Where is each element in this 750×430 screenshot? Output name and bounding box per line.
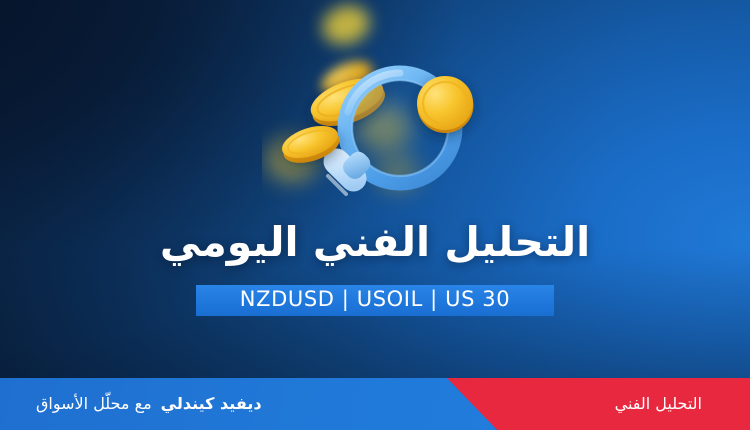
footer-category: التحليل الفني — [615, 378, 702, 430]
footer-analyst-credit: ديفيد كيندلي مع محلّل الأسواق — [36, 378, 262, 430]
category-label: التحليل الفني — [615, 396, 702, 412]
footer-bar: ديفيد كيندلي مع محلّل الأسواق التحليل ال… — [0, 378, 750, 430]
banner-root: التحليل الفني اليومي NZDUSD | USOIL | US… — [0, 0, 750, 430]
symbols-badge-container: NZDUSD | USOIL | US 30 — [0, 285, 750, 316]
magnifying-glass-with-coins-illustration — [262, 0, 512, 215]
symbols-badge: NZDUSD | USOIL | US 30 — [196, 285, 554, 316]
analyst-name: ديفيد كيندلي — [161, 396, 262, 412]
page-title: التحليل الفني اليومي — [0, 218, 750, 267]
coin-top-blurred — [317, 0, 374, 50]
analyst-with-label: مع محلّل الأسواق — [36, 396, 152, 412]
